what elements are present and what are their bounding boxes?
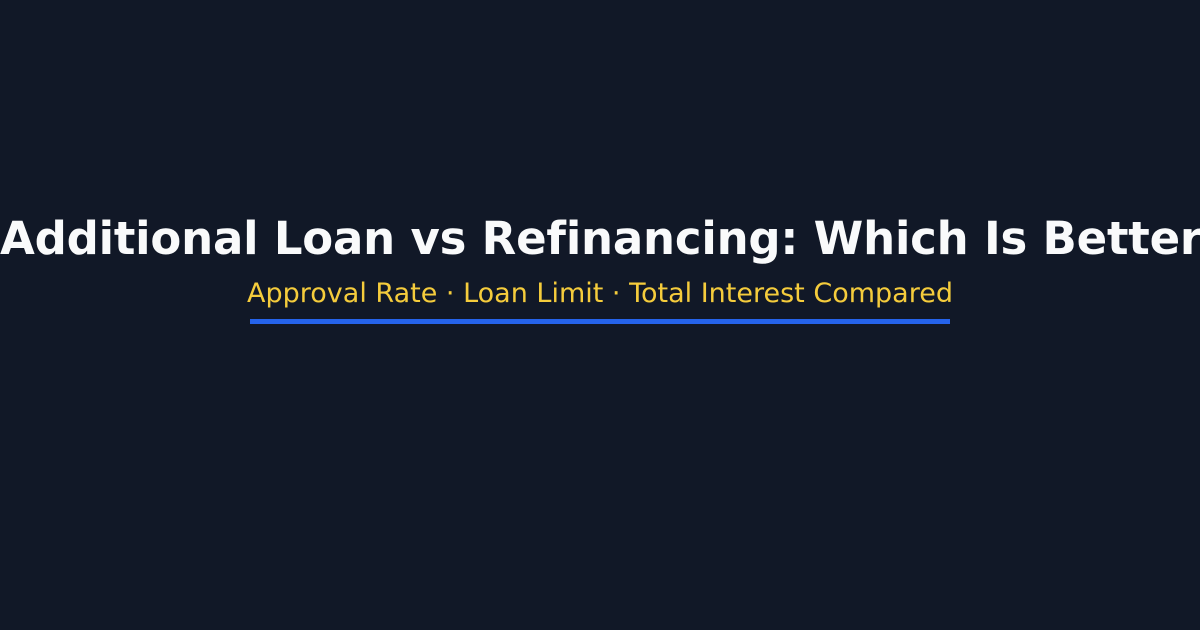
- page-subtitle: Approval Rate · Loan Limit · Total Inter…: [0, 277, 1200, 311]
- accent-divider: [250, 319, 950, 324]
- hero-card: Additional Loan vs Refinancing: Which Is…: [0, 0, 1200, 630]
- page-title: Additional Loan vs Refinancing: Which Is…: [0, 212, 1200, 266]
